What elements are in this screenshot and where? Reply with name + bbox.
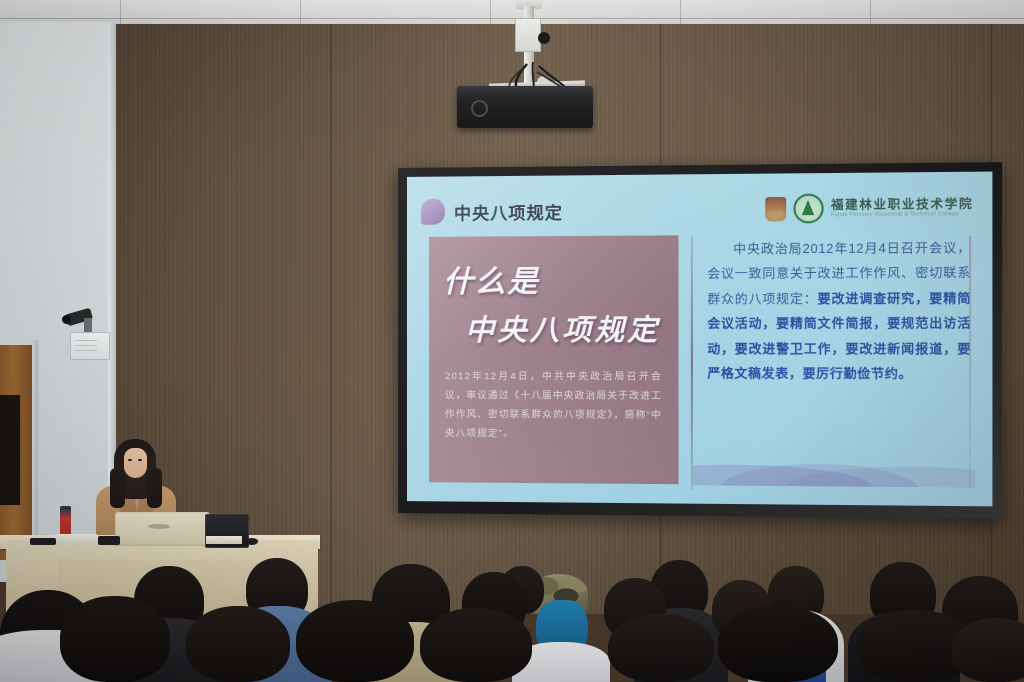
screen-surface: 中央八项规定 福建林业职业技术学院 Fujian Forestry Vocati…	[407, 172, 992, 507]
slide-wave-decoration	[693, 449, 976, 488]
slide-brush-heading: 什么是 中央八项规定	[443, 256, 666, 349]
audience-head	[952, 618, 1024, 682]
badge-blob-icon	[421, 199, 445, 225]
audience-shoulders	[778, 620, 826, 682]
slide-heading-line2: 中央八项规定	[465, 306, 666, 349]
slide-heading-line1: 什么是	[443, 256, 666, 301]
remote-control	[30, 538, 56, 545]
audience-head	[856, 610, 974, 682]
door-frame	[32, 340, 38, 562]
audience-shoulders	[512, 642, 610, 682]
wall-seam	[330, 24, 332, 614]
camera-lens-icon	[62, 315, 71, 324]
slide-right-panel: 中央政治局2012年12月4日召开会议，会议一致同意关于改进工作作风、密切联系群…	[707, 236, 971, 387]
college-logo: 福建林业职业技术学院 Fujian Forestry Vocational & …	[765, 192, 973, 223]
desk-object	[246, 538, 258, 545]
logo-names: 福建林业职业技术学院 Fujian Forestry Vocational & …	[831, 198, 973, 219]
audience-shoulders	[848, 612, 960, 682]
presenter-hair	[147, 468, 162, 508]
laptop	[115, 512, 210, 546]
audience-shoulders	[634, 608, 728, 682]
projection-screen: 中央八项规定 福建林业职业技术学院 Fujian Forestry Vocati…	[398, 162, 1002, 519]
slide-left-panel: 什么是 中央八项规定 2012年12月4日，中共中央政治局召开会议，审议通过《十…	[429, 235, 679, 484]
podium-shadow	[6, 628, 318, 650]
audience-shoulders	[348, 622, 474, 682]
camera-mount	[84, 318, 92, 332]
slide-badge-title: 中央八项规定	[454, 198, 563, 224]
logo-chinese-name: 福建林业职业技术学院	[831, 198, 973, 211]
audience-head	[420, 608, 532, 682]
logo-tree-icon	[793, 194, 823, 224]
desk-object	[98, 536, 120, 545]
audience-shoulders	[748, 610, 844, 682]
papers-stack	[55, 534, 97, 543]
slide-left-body-text: 2012年12月4日，中共中央政治局召开会议，审议通过《十八届中央政治局关于改进…	[445, 367, 662, 444]
lecture-hall-photo: 中央八项规定 福建林业职业技术学院 Fujian Forestry Vocati…	[0, 0, 1024, 682]
presentation-slide: 中央八项规定 福建林业职业技术学院 Fujian Forestry Vocati…	[407, 172, 992, 507]
wall-panel	[70, 332, 110, 360]
projector-knob-icon	[538, 32, 550, 44]
logo-emblem-icon	[765, 196, 786, 221]
slide-badge: 中央八项规定	[421, 198, 563, 225]
audience-head	[718, 606, 838, 682]
presenter-face	[124, 448, 147, 478]
podium-front-panel	[58, 560, 258, 626]
slide-right-paragraph: 中央政治局2012年12月4日召开会议，会议一致同意关于改进工作作风、密切联系群…	[707, 236, 971, 387]
projector-lens-icon	[471, 100, 488, 117]
laptop-logo-icon	[148, 524, 170, 529]
door-glass-panel	[0, 395, 22, 505]
presenter-hair	[110, 468, 125, 508]
audience-head	[608, 614, 714, 682]
papers-stack	[206, 536, 242, 544]
logo-english-name: Fujian Forestry Vocational & Technical C…	[831, 212, 973, 218]
projector-junction-box	[515, 18, 541, 52]
